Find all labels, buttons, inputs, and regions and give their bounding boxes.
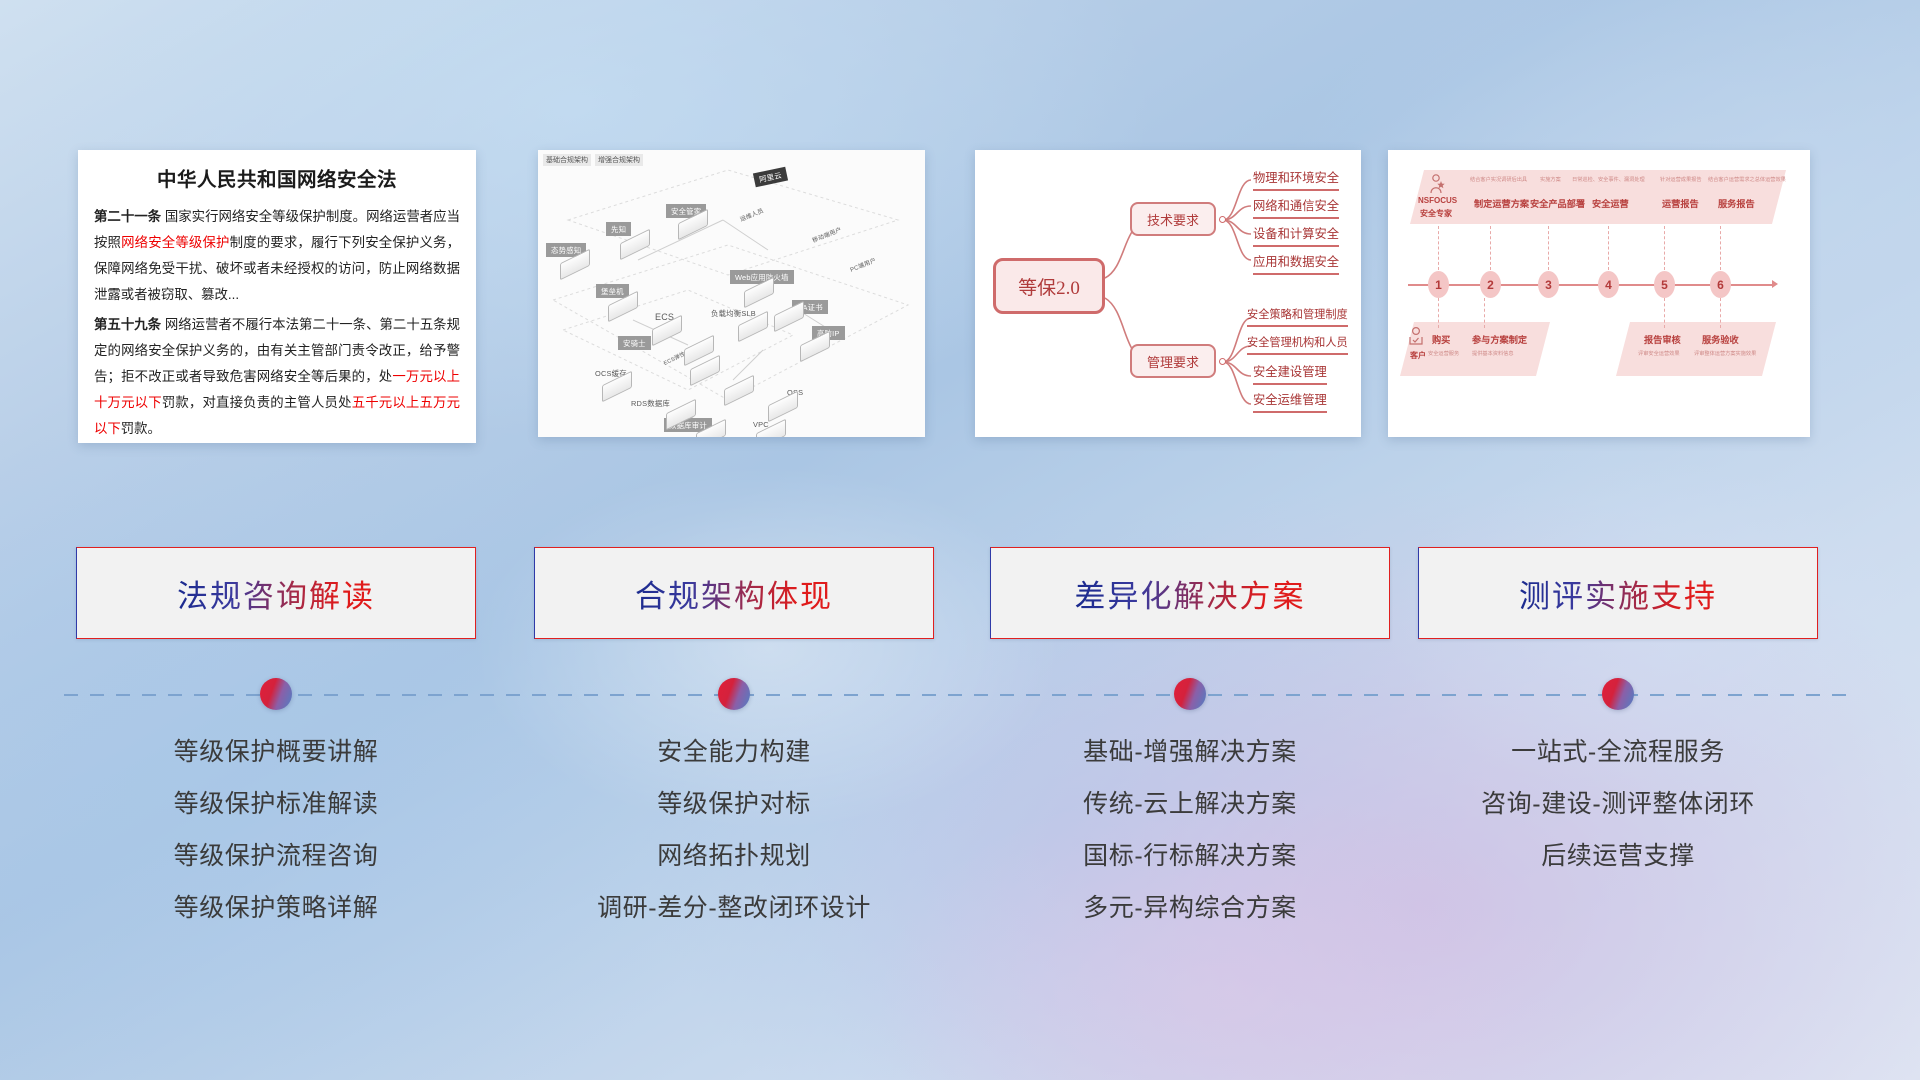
feature-column-4: 一站式-全流程服务 咨询-建设-测评整体闭环 后续运营支撑 [1418,740,1818,896]
provider-person-icon [1428,174,1446,194]
card-compliance-architecture: 基础合规架构 增强合规架构 阿里云 安全管家 [538,150,925,437]
article-59-text-2: 罚款，对直接负责的主管人员处 [162,395,352,410]
timeline-node-3[interactable]: 3 [1538,271,1559,298]
timeline-tick-b4 [1720,298,1721,328]
list-item: 等级保护流程咨询 [76,844,476,869]
title-box-compliance-architecture[interactable]: 合规架构体现 [534,547,934,639]
title-box-regulation-consulting[interactable]: 法规咨询解读 [76,547,476,639]
customer-role-label: 客户 [1410,350,1426,361]
list-item: 网络拓扑规划 [534,844,934,869]
title-label-2: 合规架构体现 [635,571,833,616]
timeline-tick-b3 [1664,298,1665,328]
title-box-assessment-support[interactable]: 测评实施支持 [1418,547,1818,639]
list-item: 等级保护标准解读 [76,792,476,817]
list-item: 国标-行标解决方案 [990,844,1390,869]
law-article-21: 第二十一条 国家实行网络安全等级保护制度。网络运营者应当按照网络安全等级保护制度… [94,204,460,309]
timeline-node-6[interactable]: 6 [1710,271,1731,298]
customer-sub-3: 评审安全运营效果 [1638,350,1680,357]
list-item: 安全能力构建 [534,740,934,765]
timeline-rail [64,693,1854,697]
customer-sub-2: 提供基本资料信息 [1472,350,1514,357]
list-item: 基础-增强解决方案 [990,740,1390,765]
timeline-sub-5: 针对运营成果报告 [1660,176,1702,183]
timeline-arrow-icon [1772,280,1778,288]
timeline-sub-3: 实施方案 [1540,176,1561,183]
feature-column-2: 安全能力构建 等级保护对标 网络拓扑规划 调研-差分-整改闭环设计 [534,740,934,948]
title-box-row: 法规咨询解读 合规架构体现 差异化解决方案 测评实施支持 [0,547,1920,639]
customer-label-1: 购买 [1432,332,1450,346]
list-item: 等级保护对标 [534,792,934,817]
timeline-tick-4 [1608,226,1609,270]
timeline-tick-6 [1720,226,1721,270]
list-item: 咨询-建设-测评整体闭环 [1418,792,1818,817]
timeline-sub-6: 结合客户运营需求之总体运营效果 [1708,176,1786,183]
mindmap-leaf-mgmt-1: 安全策略和管理制度 [1247,306,1348,327]
timeline-label-6: 服务报告 [1718,196,1755,210]
mindmap-leaf-mgmt-2: 安全管理机构和人员 [1247,334,1348,355]
customer-sub-1: 安全运营服务 [1428,350,1459,357]
card-service-timeline: NSFOCUS 安全专家 结合客户实况调研后出具 制定运营方案 实施方案 安全产… [1388,150,1810,437]
card-mindmap-dengbao: 等保2.0 技术要求 物理和环境安全 网络和通信安全 设备和计算安全 应用和数据… [975,150,1361,437]
customer-label-3: 报告审核 [1644,332,1681,346]
mindmap-dot-technical [1219,216,1226,223]
provider-role-line1: NSFOCUS [1418,196,1457,205]
timeline-label-3: 安全产品部署 [1530,196,1585,210]
timeline-node-5[interactable]: 5 [1654,271,1675,298]
timeline-node-4[interactable]: 4 [1598,271,1619,298]
feature-column-1: 等级保护概要讲解 等级保护标准解读 等级保护流程咨询 等级保护策略详解 [76,740,476,948]
rail-dashed-line [64,694,1854,696]
title-label-4: 测评实施支持 [1519,571,1717,616]
service-timeline: NSFOCUS 安全专家 结合客户实况调研后出具 制定运营方案 实施方案 安全产… [1388,150,1810,437]
rail-dot-2[interactable] [718,678,750,710]
article-21-label: 第二十一条 [94,209,161,224]
mindmap-leaf-mgmt-3: 安全建设管理 [1253,362,1327,385]
arch-node-anqishi: 安骑士 [618,336,651,350]
feature-list-row: 等级保护概要讲解 等级保护标准解读 等级保护流程咨询 等级保护策略详解 安全能力… [0,740,1920,970]
timeline-tick-2 [1490,226,1491,270]
feature-column-3: 基础-增强解决方案 传统-云上解决方案 国标-行标解决方案 多元-异构综合方案 [990,740,1390,948]
timeline-tick-5 [1664,226,1665,270]
list-item: 等级保护策略详解 [76,896,476,921]
card-cybersecurity-law: 中华人民共和国网络安全法 第二十一条 国家实行网络安全等级保护制度。网络运营者应… [78,150,476,443]
list-item: 等级保护概要讲解 [76,740,476,765]
timeline-tick-3 [1548,226,1549,270]
provider-role-line2: 安全专家 [1420,208,1452,219]
mindmap: 等保2.0 技术要求 物理和环境安全 网络和通信安全 设备和计算安全 应用和数据… [975,150,1361,437]
title-label-3: 差异化解决方案 [1075,571,1306,616]
card-row: 中华人民共和国网络安全法 第二十一条 国家实行网络安全等级保护制度。网络运营者应… [0,150,1920,450]
law-article-59: 第五十九条 网络运营者不履行本法第二十一条、第二十五条规定的网络安全保护义务的，… [94,312,460,443]
mindmap-leaf-tech-4: 应用和数据安全 [1253,252,1339,275]
timeline-node-2[interactable]: 2 [1480,271,1501,298]
arch-node-bastion-host: 堡垒机 [596,284,629,298]
timeline-label-2: 制定运营方案 [1474,196,1529,210]
mindmap-leaf-mgmt-4: 安全运维管理 [1253,390,1327,413]
mindmap-dot-management [1219,358,1226,365]
list-item: 一站式-全流程服务 [1418,740,1818,765]
timeline-tick-b2 [1484,298,1485,328]
timeline-tick-1 [1438,226,1439,270]
timeline-tick-b1 [1438,298,1439,328]
timeline-band-customer-right [1616,322,1776,376]
timeline-label-4: 安全运营 [1592,196,1629,210]
customer-person-icon [1408,326,1426,348]
timeline-node-1[interactable]: 1 [1428,271,1449,298]
article-59-text-3: 罚款。 [121,421,161,436]
title-box-differentiated-solution[interactable]: 差异化解决方案 [990,547,1390,639]
timeline-sub-2: 结合客户实况调研后出具 [1470,176,1527,183]
customer-label-4: 服务验收 [1702,332,1739,346]
architecture-diagram: 基础合规架构 增强合规架构 阿里云 安全管家 [538,150,925,437]
customer-sub-4: 评审整体运营方案实施效果 [1694,350,1756,357]
timeline-sub-4: 日常巡检、安全事件、漏洞处理 [1572,176,1645,183]
mindmap-leaf-tech-1: 物理和环境安全 [1253,168,1339,191]
article-59-label: 第五十九条 [94,317,161,332]
law-document: 中华人民共和国网络安全法 第二十一条 国家实行网络安全等级保护制度。网络运营者应… [78,150,476,443]
list-item: 调研-差分-整改闭环设计 [534,896,934,921]
arch-node-rds-database: RDS数据库 [626,396,675,410]
title-label-1: 法规咨询解读 [177,571,375,616]
mindmap-root-node: 等保2.0 [993,258,1105,314]
mindmap-leaf-tech-2: 网络和通信安全 [1253,196,1339,219]
article-21-highlight: 网络安全等级保护 [121,235,230,250]
list-item: 多元-异构综合方案 [990,896,1390,921]
law-title: 中华人民共和国网络安全法 [94,163,460,192]
arch-node-xianzhi: 先知 [606,222,631,236]
customer-label-2: 参与方案制定 [1472,332,1527,346]
mindmap-branch-technical: 技术要求 [1130,202,1216,236]
mindmap-leaf-tech-3: 设备和计算安全 [1253,224,1339,247]
list-item: 传统-云上解决方案 [990,792,1390,817]
list-item: 后续运营支撑 [1418,844,1818,869]
timeline-label-5: 运营报告 [1662,196,1699,210]
rail-dot-1[interactable] [260,678,292,710]
rail-dot-3[interactable] [1174,678,1206,710]
mindmap-branch-management: 管理要求 [1130,344,1216,378]
rail-dot-4[interactable] [1602,678,1634,710]
